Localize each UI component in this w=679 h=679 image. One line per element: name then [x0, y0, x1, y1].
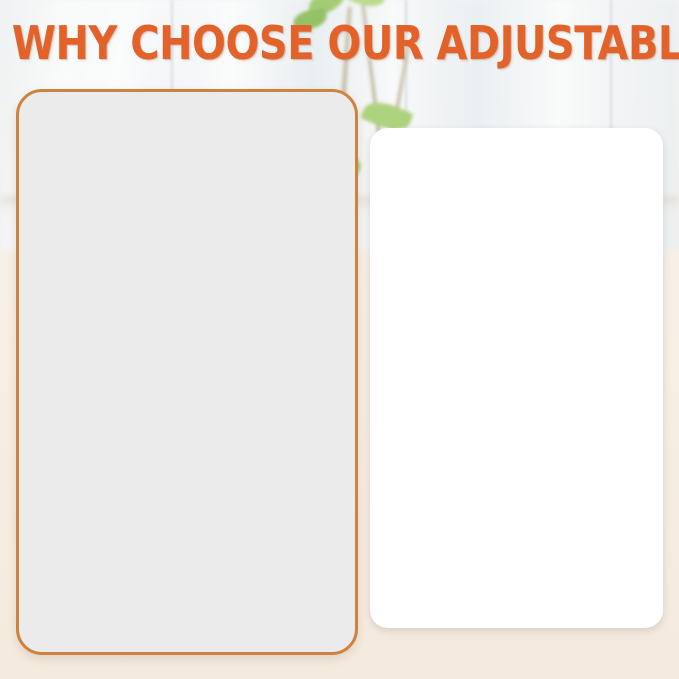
pros-card	[16, 89, 358, 655]
infographic-root: WHY CHOOSE OUR ADJUSTABLE DUMBBELLS	[0, 0, 679, 679]
page-title: WHY CHOOSE OUR ADJUSTABLE DUMBBELLS	[12, 20, 667, 68]
cons-card	[370, 128, 663, 628]
